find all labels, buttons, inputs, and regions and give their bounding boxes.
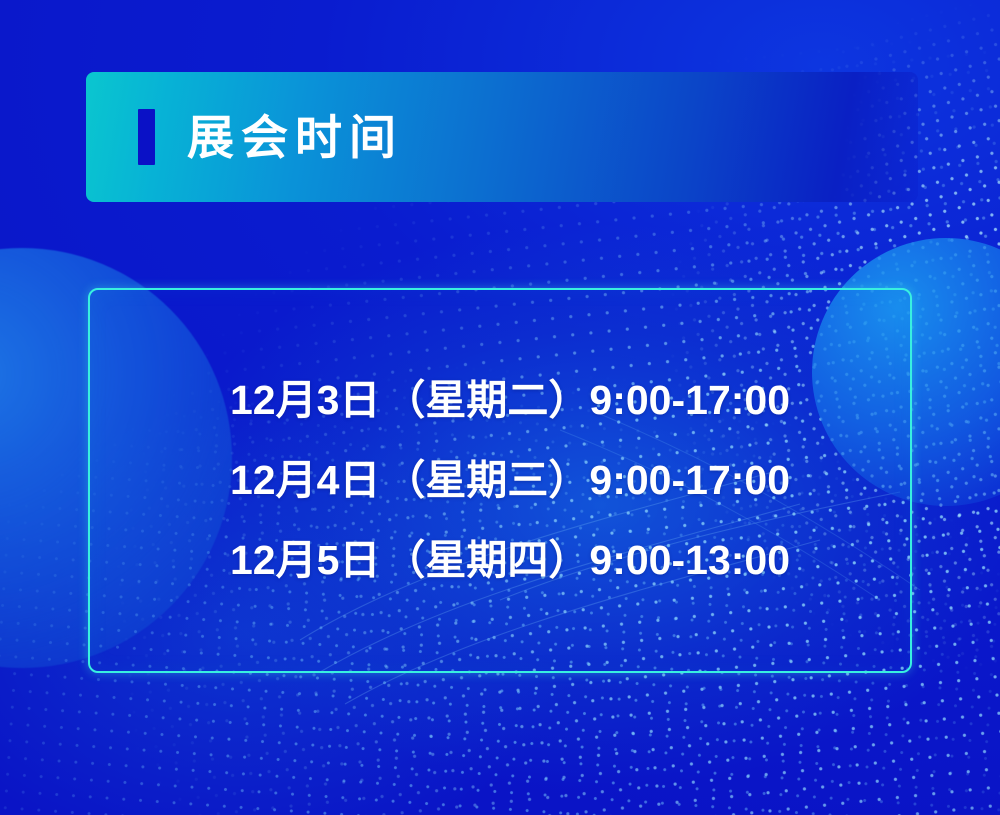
- schedule-list: 12月3日（星期二）9:00-17:00 12月4日（星期三）9:00-17:0…: [90, 364, 910, 597]
- schedule-row: 12月3日（星期二）9:00-17:00: [230, 364, 910, 437]
- schedule-date: 12月4日: [230, 457, 380, 503]
- schedule-weekday: （星期二）: [384, 377, 589, 423]
- schedule-row: 12月4日（星期三）9:00-17:00: [230, 444, 910, 517]
- schedule-time: 9:00-17:00: [589, 377, 790, 423]
- schedule-date: 12月5日: [230, 537, 380, 583]
- schedule-card: 12月3日（星期二）9:00-17:00 12月4日（星期三）9:00-17:0…: [88, 288, 912, 673]
- poster-canvas: 展会时间 12月3日（星期二）9:00-17:00 12月4日（星期三）9:00…: [0, 0, 1000, 815]
- page-title: 展会时间: [187, 114, 403, 161]
- title-accent-bar: [138, 109, 155, 165]
- schedule-weekday: （星期三）: [384, 457, 589, 503]
- section-title-banner: 展会时间: [86, 72, 918, 202]
- schedule-time: 9:00-17:00: [589, 457, 790, 503]
- schedule-time: 9:00-13:00: [589, 537, 790, 583]
- schedule-date: 12月3日: [230, 377, 380, 423]
- schedule-row: 12月5日（星期四）9:00-13:00: [230, 524, 910, 597]
- schedule-weekday: （星期四）: [384, 537, 589, 583]
